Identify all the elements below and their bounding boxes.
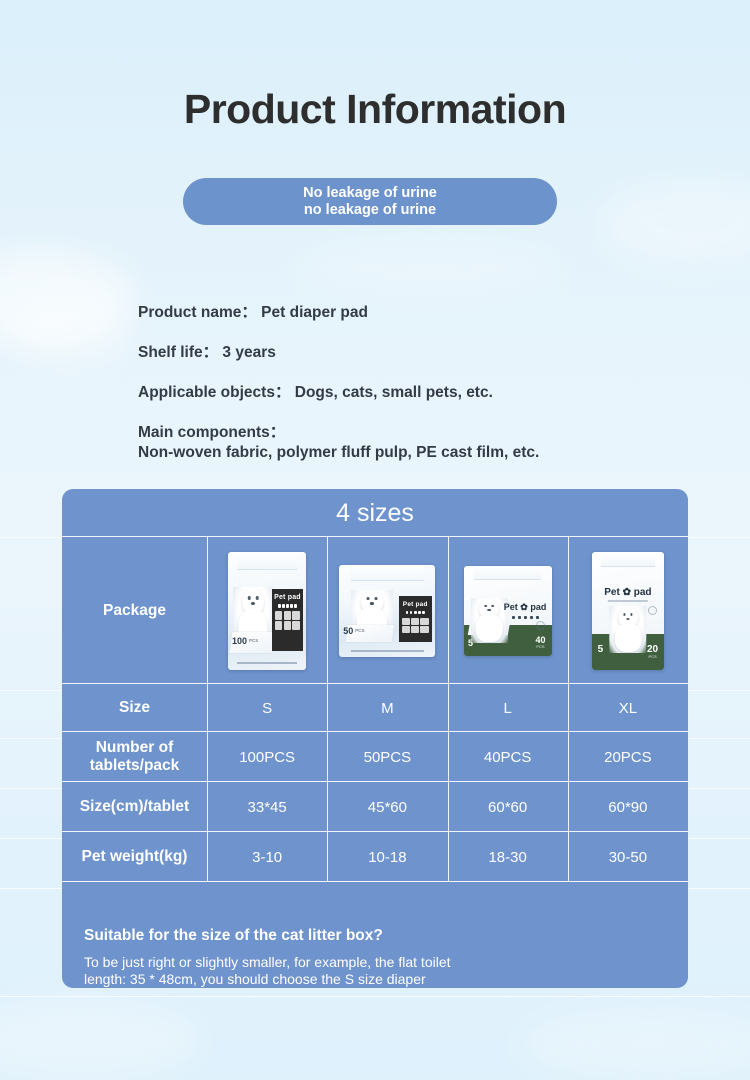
size-value-m: M: [327, 684, 447, 732]
dog-eyes-icon: [367, 597, 378, 600]
count-badge: 50 PCS: [343, 627, 364, 636]
brand-subline: [608, 600, 648, 602]
table-row-package: Package Pet pad: [62, 537, 688, 684]
pet-weight-m: 10-18: [327, 832, 447, 882]
feature-grid-icon: [402, 618, 429, 632]
dimension-m: 45*60: [327, 782, 447, 832]
row-label-tablet-count: Number of tablets/pack: [62, 732, 207, 782]
spec-label: Product name：: [138, 304, 257, 321]
count-unit: PCS: [535, 645, 545, 649]
tablet-count-l: 40PCS: [448, 732, 568, 782]
size-value-l: L: [448, 684, 568, 732]
spec-list: Product name： Pet diaper pad Shelf life：…: [138, 300, 539, 462]
package-image-m: Pet pad 50 PCS: [327, 537, 447, 684]
dog-eyes-icon: [248, 596, 259, 600]
spec-value: Dogs, cats, small pets, etc.: [295, 384, 493, 401]
feature-dots-icon: [276, 604, 298, 608]
table-row-pet-weight: Pet weight(kg) 3-10 10-18 18-30 30-50: [62, 832, 688, 882]
row-label-package: Package: [62, 537, 207, 684]
dog-nose-icon: [626, 618, 630, 620]
dog-illustration: [609, 606, 646, 653]
count-unit: PCS: [355, 629, 364, 634]
package-cell-xl: Pet ✿ pad 5 20 PCS: [568, 537, 688, 684]
package-cell-m: Pet pad 50 PCS: [327, 537, 447, 684]
feature-dots-icon: [403, 611, 426, 615]
table-row-size: Size S M L XL: [62, 684, 688, 732]
spec-applicable-objects: Applicable objects： Dogs, cats, small pe…: [138, 380, 539, 402]
package-cell-l: Pet ✿ pad 5 40 PCS: [448, 537, 568, 684]
page-title: Product Information: [0, 86, 750, 133]
count-number: 100: [232, 637, 247, 646]
spec-label: Main components：: [138, 420, 539, 442]
badge-line-1: No leakage of urine: [303, 185, 437, 202]
table-row-dimension: Size(cm)/tablet 33*45 45*60 60*60 60*90: [62, 782, 688, 832]
seal-icon: [648, 606, 657, 615]
brand-label: Pet pad: [274, 594, 301, 601]
count-badge: 40 PCS: [535, 636, 545, 649]
feature-badge: No leakage of urine no leakage of urine: [183, 178, 557, 225]
spec-value: Non-woven fabric, polymer fluff pulp, PE…: [138, 444, 539, 462]
count-unit: PCS: [647, 655, 658, 659]
size-badge-left: 5: [598, 645, 604, 655]
package-cell-s: Pet pad 100 PCS: [207, 537, 327, 684]
dimension-l: 60*60: [448, 782, 568, 832]
package-image-l: Pet ✿ pad 5 40 PCS: [448, 537, 568, 684]
package-image-xl: Pet ✿ pad 5 20 PCS: [568, 537, 688, 684]
size-table: 4 sizes Package Pet pad: [62, 489, 688, 988]
spec-product-name: Product name： Pet diaper pad: [138, 300, 539, 322]
size-value-s: S: [207, 684, 327, 732]
litter-box-note: Suitable for the size of the cat litter …: [62, 911, 688, 988]
pet-weight-l: 18-30: [448, 832, 568, 882]
size-value-xl: XL: [568, 684, 688, 732]
dimension-xl: 60*90: [568, 782, 688, 832]
feature-grid-icon: [275, 611, 301, 629]
spec-label: Applicable objects：: [138, 384, 290, 401]
dog-nose-icon: [370, 602, 374, 604]
product-information-page: Product Information No leakage of urine …: [0, 0, 750, 1070]
dog-eyes-icon: [623, 613, 633, 616]
dog-nose-icon: [251, 602, 255, 605]
badge-left-number: 5: [468, 639, 473, 648]
note-answer-line-2: length: 35 * 48cm, you should choose the…: [84, 971, 666, 988]
table-row-tablet-count: Number of tablets/pack 100PCS 50PCS 40PC…: [62, 732, 688, 782]
spec-value: 3 years: [222, 344, 275, 361]
bag-top-fold: [351, 565, 424, 582]
brand-label: Pet pad: [403, 602, 428, 609]
package-image-s: Pet pad 100 PCS: [207, 537, 327, 684]
brand-label-row: Pet ✿ pad: [504, 602, 547, 613]
feature-dots-icon: [512, 616, 539, 619]
row-label-line-2: tablets/pack: [90, 757, 180, 775]
count-unit: PCS: [249, 639, 258, 644]
count-badge: 20 PCS: [647, 645, 658, 659]
spec-value: Pet diaper pad: [261, 304, 368, 321]
brand-label-row: Pet ✿ pad: [604, 587, 651, 598]
row-label-dimension: Size(cm)/tablet: [62, 782, 207, 832]
dimension-s: 33*45: [207, 782, 327, 832]
bag-foot-line: [237, 662, 296, 664]
badge-left-number: 5: [598, 645, 604, 655]
row-label-line-1: Number of: [90, 739, 180, 757]
row-label-size: Size: [62, 684, 207, 732]
count-number: 50: [343, 627, 353, 636]
row-label-pet-weight: Pet weight(kg): [62, 832, 207, 882]
brand-panel: Pet pad: [272, 589, 303, 650]
spec-main-components: Main components： Non-woven fabric, polym…: [138, 420, 539, 462]
table-header: 4 sizes: [62, 489, 688, 537]
seal-icon: [536, 621, 545, 630]
badge-line-2: no leakage of urine: [304, 202, 436, 219]
pet-weight-xl: 30-50: [568, 832, 688, 882]
pet-weight-s: 3-10: [207, 832, 327, 882]
brand-panel: Pet pad: [399, 596, 432, 642]
note-answer-line-1: To be just right or slightly smaller, fo…: [84, 954, 666, 971]
tablet-count-s: 100PCS: [207, 732, 327, 782]
brand-label: Pet ✿ pad: [604, 587, 651, 598]
dog-illustration: [471, 598, 508, 643]
bag-foot-line: [351, 650, 424, 652]
dog-eyes-icon: [484, 605, 494, 608]
dog-nose-icon: [487, 609, 491, 611]
tablet-count-m: 50PCS: [327, 732, 447, 782]
spec-shelf-life: Shelf life： 3 years: [138, 340, 539, 362]
note-question: Suitable for the size of the cat litter …: [84, 927, 666, 945]
bag-top-fold: [474, 566, 541, 580]
tablet-count-xl: 20PCS: [568, 732, 688, 782]
size-badge-left: 5: [468, 639, 473, 648]
count-badge: 100 PCS: [232, 637, 258, 646]
spec-label: Shelf life：: [138, 344, 218, 361]
bag-top-fold: [601, 552, 656, 567]
note-answer: To be just right or slightly smaller, fo…: [84, 954, 666, 988]
bag-top-fold: [237, 552, 296, 571]
brand-label: Pet ✿ pad: [504, 602, 547, 613]
